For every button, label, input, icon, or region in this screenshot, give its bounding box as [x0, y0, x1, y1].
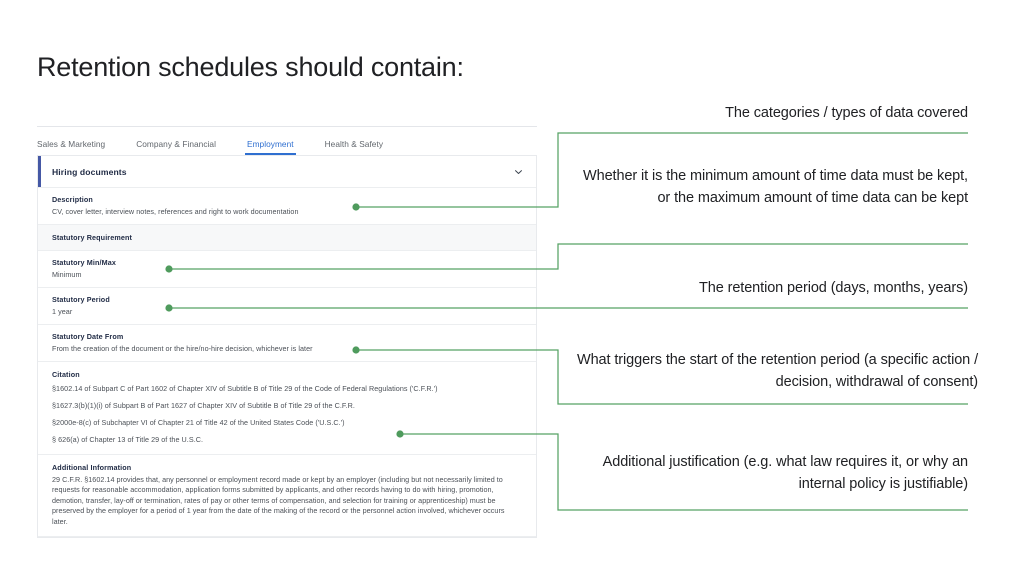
tab-company-financial[interactable]: Company & Financial	[136, 139, 216, 155]
tab-employment[interactable]: Employment	[247, 139, 294, 155]
section-header-statutory-requirement: Statutory Requirement	[38, 225, 536, 251]
document-detail-panel: Hiring documents Description CV, cover l…	[37, 155, 537, 538]
annotation-min-max: Whether it is the minimum amount of time…	[568, 166, 968, 209]
citation-item: §1627.3(b)(1)(i) of Subpart B of Part 16…	[52, 401, 522, 411]
tab-health-safety[interactable]: Health & Safety	[325, 139, 383, 155]
section-header-label: Statutory Requirement	[52, 233, 522, 242]
citation-item: § 626(a) of Chapter 13 of Title 29 of th…	[52, 435, 522, 445]
annotation-categories: The categories / types of data covered	[568, 103, 968, 125]
tab-sales-marketing[interactable]: Sales & Marketing	[37, 139, 105, 155]
accordion-header-hiring-documents[interactable]: Hiring documents	[38, 156, 536, 188]
citation-item: §2000e-8(c) of Subchapter VI of Chapter …	[52, 418, 522, 428]
field-description: Description CV, cover letter, interview …	[38, 188, 536, 225]
field-label-description: Description	[52, 195, 522, 204]
accordion-title: Hiring documents	[52, 167, 127, 177]
field-statutory-date-from: Statutory Date From From the creation of…	[38, 325, 536, 362]
field-statutory-period: Statutory Period 1 year	[38, 288, 536, 325]
field-label-additional-information: Additional Information	[52, 463, 522, 472]
category-tab-bar: Sales & Marketing Company & Financial Em…	[37, 126, 537, 155]
annotation-trigger: What triggers the start of the retention…	[568, 350, 978, 393]
field-citation: Citation §1602.14 of Subpart C of Part 1…	[38, 362, 536, 455]
field-value-statutory-min-max: Minimum	[52, 270, 522, 280]
field-value-additional-information: 29 C.F.R. §1602.14 provides that, any pe…	[52, 475, 522, 527]
accordion-accent-bar	[38, 156, 41, 187]
field-label-statutory-min-max: Statutory Min/Max	[52, 258, 522, 267]
field-value-statutory-period: 1 year	[52, 307, 522, 317]
retention-schedule-card: Sales & Marketing Company & Financial Em…	[37, 126, 537, 538]
field-label-statutory-date-from: Statutory Date From	[52, 332, 522, 341]
field-statutory-min-max: Statutory Min/Max Minimum	[38, 251, 536, 288]
field-label-citation: Citation	[52, 370, 522, 379]
field-value-description: CV, cover letter, interview notes, refer…	[52, 207, 522, 217]
page-title: Retention schedules should contain:	[37, 50, 464, 84]
field-label-statutory-period: Statutory Period	[52, 295, 522, 304]
slide-canvas: Retention schedules should contain: Sale…	[0, 0, 1024, 576]
field-additional-information: Additional Information 29 C.F.R. §1602.1…	[38, 455, 536, 537]
annotation-justification: Additional justification (e.g. what law …	[568, 452, 968, 495]
citation-item: §1602.14 of Subpart C of Part 1602 of Ch…	[52, 384, 522, 394]
field-value-statutory-date-from: From the creation of the document or the…	[52, 344, 522, 354]
annotation-retention-period: The retention period (days, months, year…	[568, 278, 968, 300]
chevron-down-icon[interactable]	[514, 167, 523, 176]
